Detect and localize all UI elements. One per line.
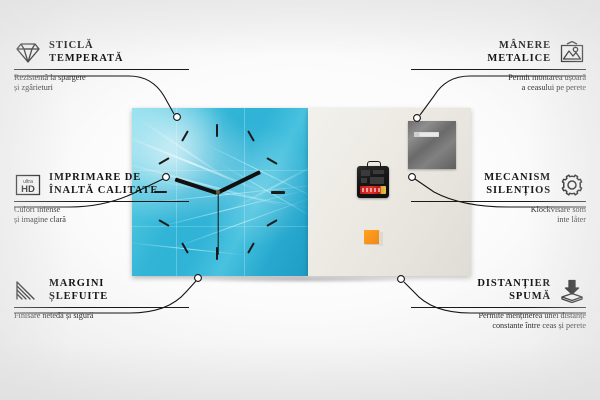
callout-rule — [411, 307, 586, 308]
callout-header: DISTANȚIER SPUMĂ — [411, 278, 586, 303]
callout-header: ultra HD IMPRIMARE DE ÎNALTĂ CALITATE — [14, 172, 189, 197]
clock-mechanism — [357, 166, 389, 198]
callout-sticla-temperata: STICLĂ TEMPERATĂ Rezistentă la spargere … — [14, 40, 189, 93]
callout-title: IMPRIMARE DE ÎNALTĂ CALITATE — [49, 172, 158, 197]
callout-title: MECANISM SILENȚIOS — [484, 172, 551, 197]
callout-subtitle: Permit montarea ușoară a ceasului pe per… — [411, 73, 586, 93]
ultra-hd-icon: ultra HD — [14, 173, 42, 197]
diamond-icon — [14, 41, 42, 65]
callout-title: STICLĂ TEMPERATĂ — [49, 40, 123, 65]
callout-manere-metalice: MÂNERE METALICE Permit montarea ușoară a… — [411, 40, 586, 93]
foam-spacer-icon — [558, 279, 586, 303]
callout-title: MÂNERE METALICE — [487, 40, 551, 65]
metal-hanger-plate — [408, 121, 456, 169]
callout-rule — [411, 201, 586, 202]
callout-subtitle: Rezistentă la spargere și zgârieturi — [14, 73, 189, 93]
infographic-canvas: STICLĂ TEMPERATĂ Rezistentă la spargere … — [0, 0, 600, 400]
callout-header: MECANISM SILENȚIOS — [411, 172, 586, 197]
polished-edge-icon — [14, 279, 42, 303]
callout-subtitle: Finisare netedă și sigură — [14, 311, 189, 321]
mechanism-hook — [367, 161, 381, 169]
callout-distantier-spuma: DISTANȚIER SPUMĂ Permite menținerea unei… — [411, 278, 586, 331]
picture-hanger-icon — [558, 41, 586, 65]
callout-subtitle: Permite menținerea unei distanțe constan… — [411, 311, 586, 331]
callout-header: MARGINI ȘLEFUITE — [14, 278, 189, 303]
callout-header: STICLĂ TEMPERATĂ — [14, 40, 189, 65]
callout-subtitle: Klockvisare som inte låter — [411, 205, 586, 225]
callout-rule — [14, 307, 189, 308]
callout-subtitle: Culori intense și imagine clară — [14, 205, 189, 225]
callout-rule — [14, 69, 189, 70]
foam-spacer-pad — [364, 230, 379, 244]
callout-rule — [411, 69, 586, 70]
callout-header: MÂNERE METALICE — [411, 40, 586, 65]
gear-icon — [558, 173, 586, 197]
callout-margini-slefuite: MARGINI ȘLEFUITE Finisare netedă și sigu… — [14, 278, 189, 321]
callout-title: DISTANȚIER SPUMĂ — [477, 278, 551, 303]
callout-imprimare-hd: ultra HD IMPRIMARE DE ÎNALTĂ CALITATE Cu… — [14, 172, 189, 225]
callout-title: MARGINI ȘLEFUITE — [49, 278, 108, 303]
second-hand — [217, 193, 218, 255]
callout-mecanism-silentios: MECANISM SILENȚIOS Klockvisare som inte … — [411, 172, 586, 225]
callout-rule — [14, 201, 189, 202]
svg-text:HD: HD — [21, 184, 35, 195]
clock-center-cap — [216, 190, 220, 194]
